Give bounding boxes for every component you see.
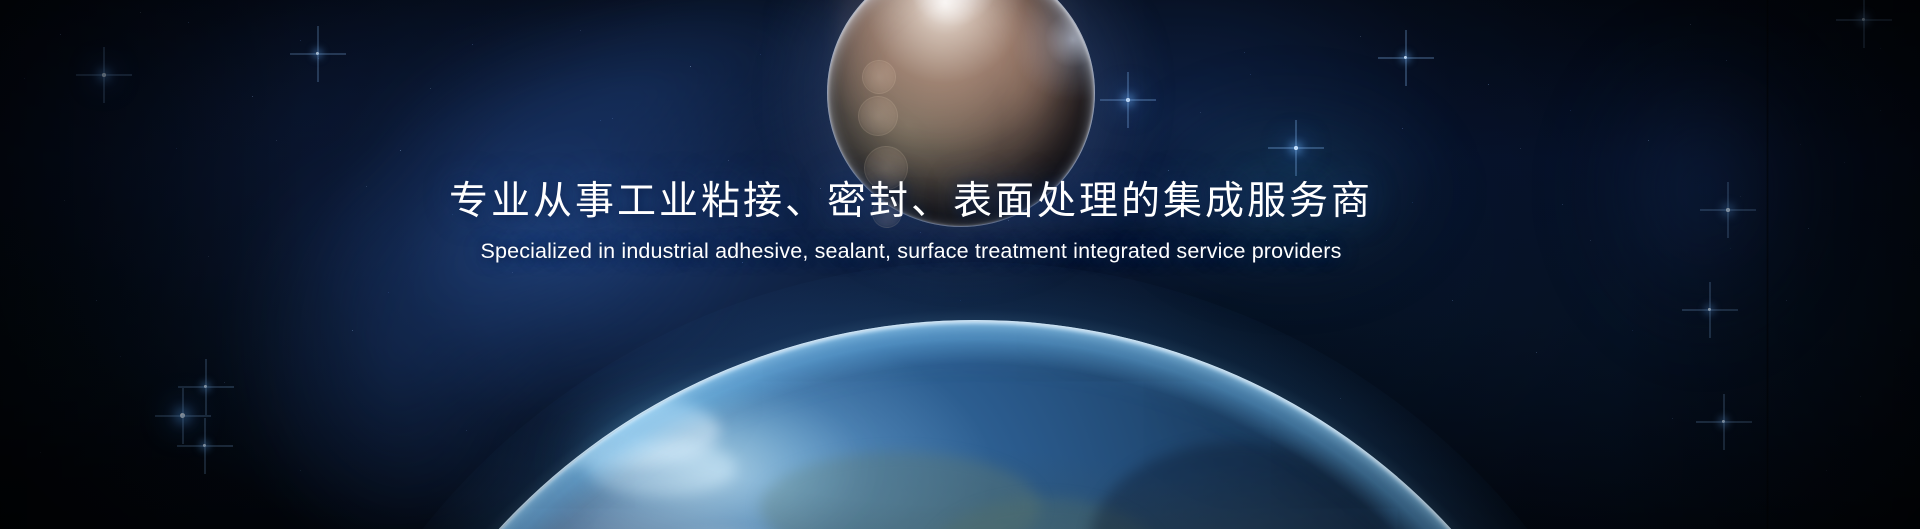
bright-star-12 bbox=[1404, 56, 1407, 59]
bright-star-5 bbox=[1126, 98, 1130, 102]
hero-subheadline-en: Specialized in industrial adhesive, seal… bbox=[0, 239, 1822, 265]
lens-bokeh-2 bbox=[858, 96, 898, 136]
lens-bokeh-1 bbox=[862, 60, 896, 94]
bright-star-9 bbox=[1708, 308, 1711, 311]
hero-text-block: 专业从事工业粘接、密封、表面处理的集成服务商 Specialized in in… bbox=[0, 180, 1920, 265]
earth-planet bbox=[330, 322, 1620, 529]
bright-star-3 bbox=[203, 444, 206, 447]
hero-banner: 专业从事工业粘接、密封、表面处理的集成服务商 Specialized in in… bbox=[0, 0, 1920, 529]
bright-star-6 bbox=[1294, 146, 1298, 150]
bright-star-8 bbox=[1722, 420, 1725, 423]
hero-headline-zh: 专业从事工业粘接、密封、表面处理的集成服务商 bbox=[0, 180, 1822, 225]
bright-star-4 bbox=[102, 73, 106, 77]
bright-star-1 bbox=[180, 413, 185, 418]
bright-star-2 bbox=[204, 385, 207, 388]
bright-star-10 bbox=[316, 52, 319, 55]
bright-star-11 bbox=[1862, 18, 1865, 21]
